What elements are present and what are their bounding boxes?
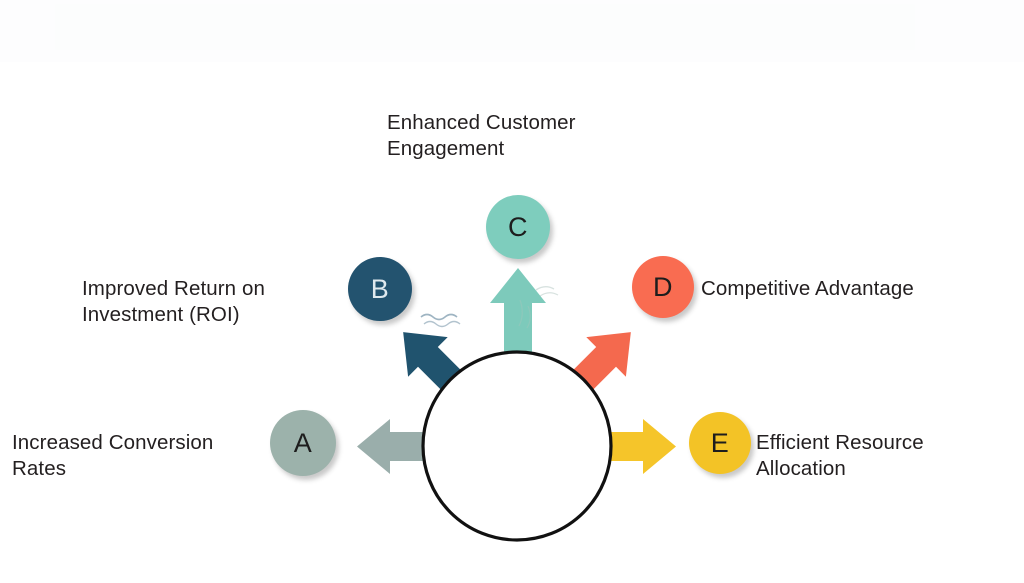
node-letter-d: D [653,274,673,301]
label-enhanced-customer-engagement: Enhanced Customer Engagement [387,110,647,162]
node-circle-c[interactable]: C [486,195,550,259]
node-letter-a: A [294,430,313,457]
node-letter-b: B [371,276,390,303]
label-increased-conversion-rates: Increased Conversion Rates [12,430,262,482]
arrow-left-a [357,419,424,474]
arrow-up-c [490,268,546,360]
arrow-right-e [610,419,676,474]
node-letter-c: C [508,214,528,241]
node-circle-b[interactable]: B [348,257,412,321]
slide-canvas: A B C D E Enhanced Customer Engagement I… [0,0,1024,583]
node-circle-e[interactable]: E [689,412,751,474]
node-circle-a[interactable]: A [270,410,336,476]
node-circle-d[interactable]: D [632,256,694,318]
label-efficient-resource-allocation: Efficient Resource Allocation [756,430,1024,482]
label-competitive-advantage: Competitive Advantage [701,276,1001,302]
node-letter-e: E [711,430,730,457]
center-hub-circle[interactable] [423,352,611,540]
label-improved-return-on-investment: Improved Return on Investment (ROI) [82,276,342,328]
